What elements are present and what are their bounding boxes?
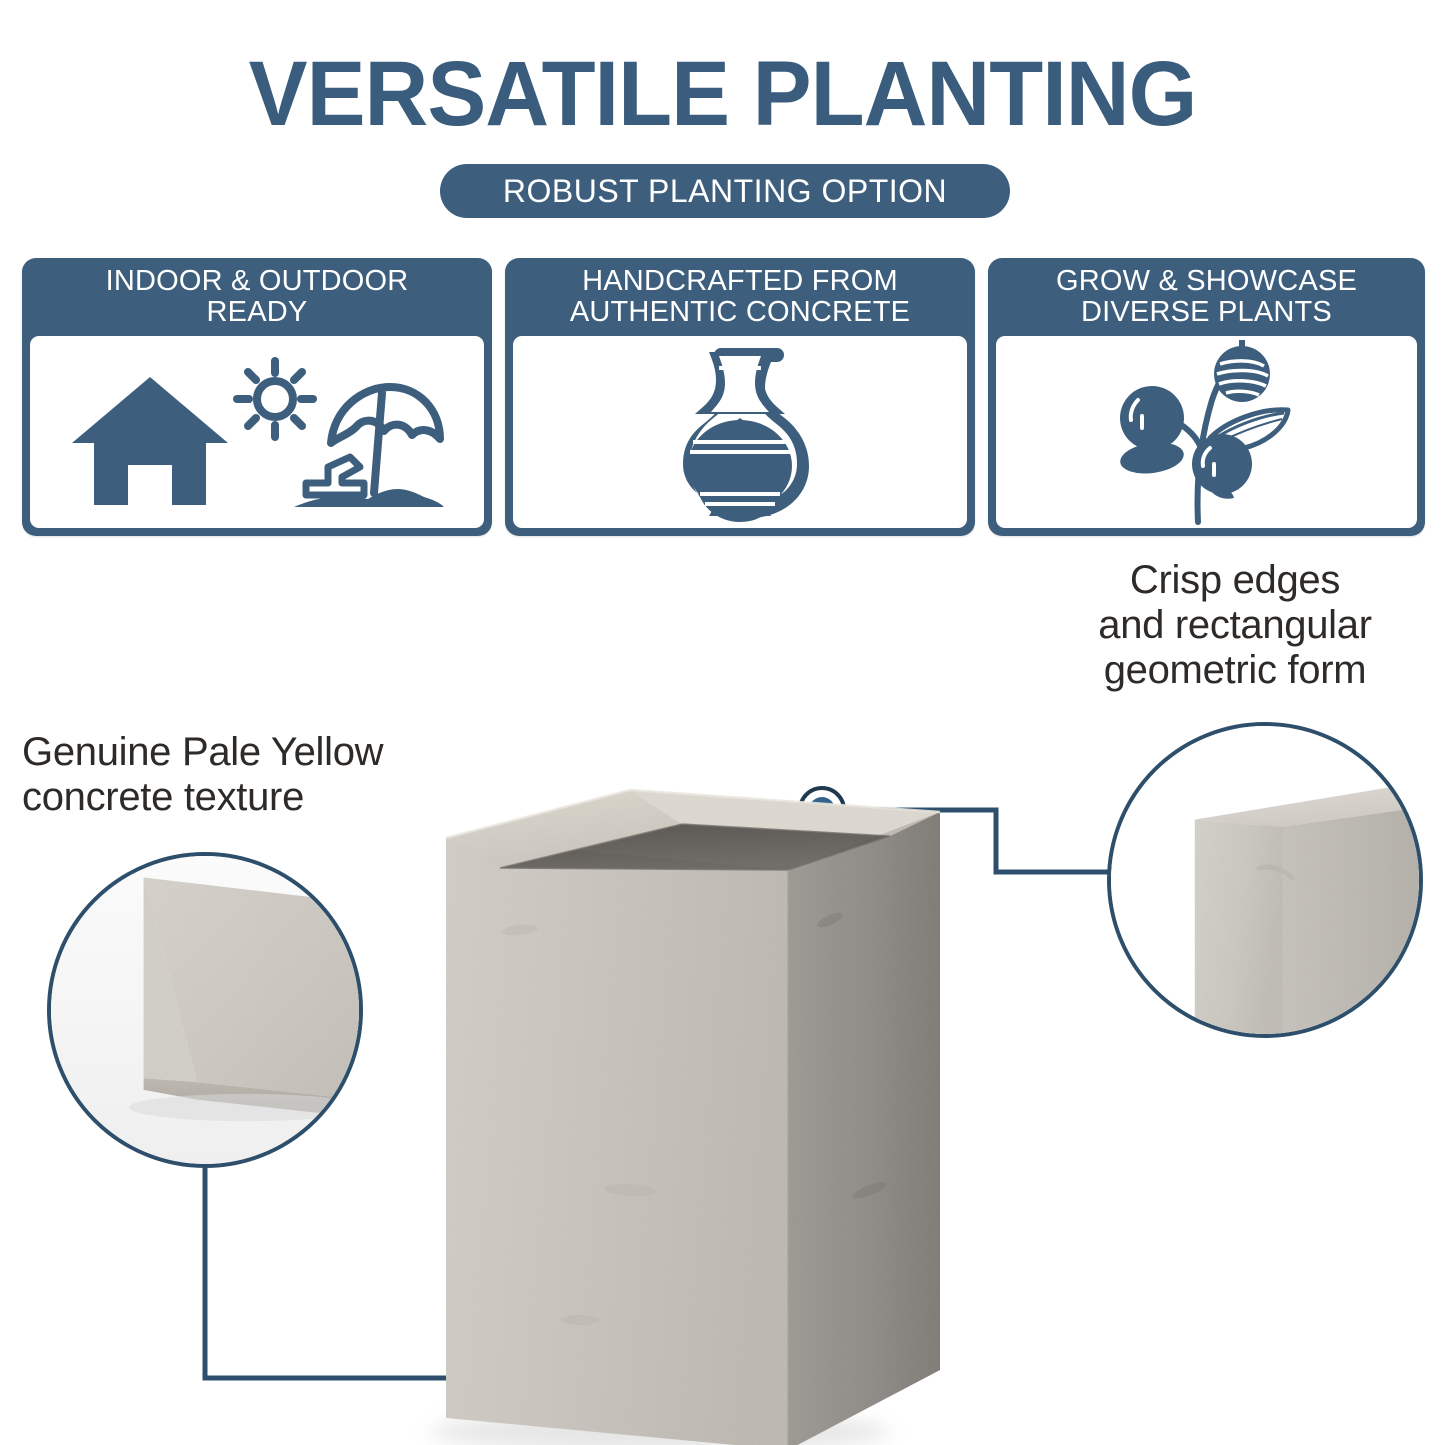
feature-card-title: HANDCRAFTED FROM AUTHENTIC CONCRETE <box>505 258 975 336</box>
status-badge-label: ROBUST PLANTING OPTION <box>503 173 947 210</box>
feature-card-title-line2: AUTHENTIC CONCRETE <box>570 296 910 328</box>
feature-card-indoor-outdoor: INDOOR & OUTDOOR READY <box>22 258 492 536</box>
vase-icon <box>645 342 835 522</box>
feature-card-title: GROW & SHOWCASE DIVERSE PLANTS <box>988 258 1425 336</box>
page-title: VERSATILE PLANTING <box>29 48 1416 140</box>
feature-card-title-line1: HANDCRAFTED FROM <box>582 265 898 297</box>
indoor-outdoor-icon-group <box>42 347 472 517</box>
infographic-canvas: VERSATILE PLANTING ROBUST PLANTING OPTIO… <box>0 0 1445 1445</box>
callout-right-line2: and rectangular <box>1030 603 1440 648</box>
feature-card-icon-area <box>30 336 484 528</box>
detail-circle-rim <box>1107 722 1423 1038</box>
concrete-texture-closeup <box>51 856 359 1164</box>
feature-card-icon-area <box>996 336 1417 528</box>
rim-corner-closeup <box>1111 726 1419 1034</box>
feature-card-list: INDOOR & OUTDOOR READY <box>0 258 1445 538</box>
feature-card-authentic-concrete: HANDCRAFTED FROM AUTHENTIC CONCRETE <box>505 258 975 536</box>
left-berry <box>1120 386 1202 450</box>
detail-circle-texture <box>47 852 363 1168</box>
feature-card-title-line1: GROW & SHOWCASE <box>1056 265 1357 297</box>
beach-umbrella-icon <box>294 387 444 507</box>
callout-right-line1: Crisp edges <box>1030 558 1440 603</box>
planter-render <box>330 760 1030 1445</box>
callout-right-line3: geometric form <box>1030 648 1440 693</box>
feature-card-title-line2: READY <box>207 296 308 328</box>
sun-icon <box>237 361 313 437</box>
lower-berry <box>1192 434 1252 499</box>
house-icon <box>72 377 228 505</box>
feature-card-title: INDOOR & OUTDOOR READY <box>22 258 492 336</box>
berry-sprig-icon <box>1092 340 1322 525</box>
feature-card-title-line1: INDOOR & OUTDOOR <box>106 265 409 297</box>
callout-text-right: Crisp edges and rectangular geometric fo… <box>1030 558 1440 694</box>
feature-card-icon-area <box>513 336 967 528</box>
striped-berry <box>1214 340 1270 402</box>
status-badge: ROBUST PLANTING OPTION <box>440 164 1010 218</box>
feature-card-diverse-plants: GROW & SHOWCASE DIVERSE PLANTS <box>988 258 1425 536</box>
product-image-planter <box>330 760 1030 1445</box>
feature-card-title-line2: DIVERSE PLANTS <box>1081 296 1332 328</box>
